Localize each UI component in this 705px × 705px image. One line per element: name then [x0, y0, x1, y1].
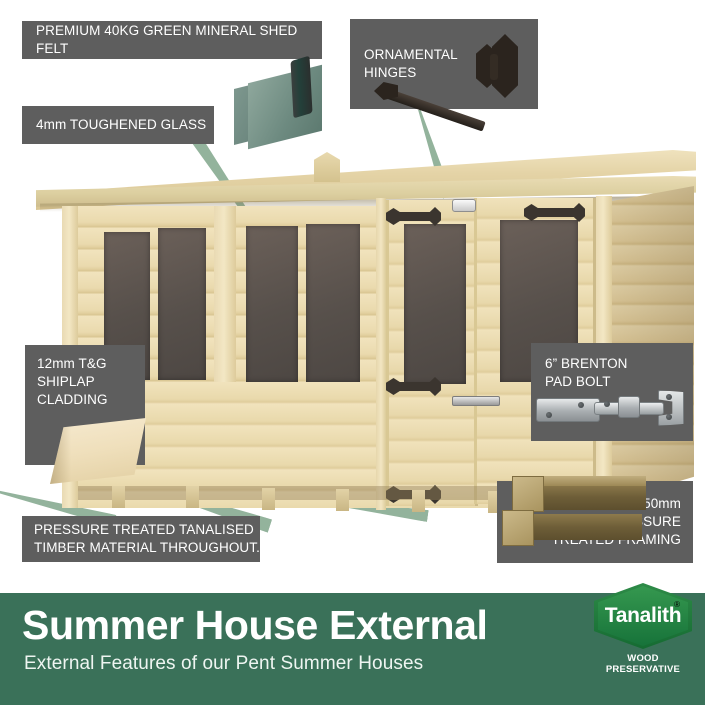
door-pad-bolt: [452, 396, 500, 406]
timber-batten-lower-end: [502, 510, 534, 546]
base-bearer-3: [262, 488, 275, 510]
window-pane-4: [306, 224, 360, 382]
timber-batten-upper-side: [526, 484, 646, 510]
pad-bolt-photo: [534, 382, 690, 430]
base-bearer-2: [186, 486, 199, 508]
hinge-tip: [374, 82, 398, 100]
window-pane-3: [246, 226, 298, 382]
ornamental-hinge-1: [392, 212, 436, 221]
framing-timber-photo: [500, 468, 650, 554]
roof-ridge-block: [314, 152, 340, 182]
page-title: Summer House External: [22, 605, 488, 646]
door-frame: [376, 198, 386, 510]
door-window-left: [404, 224, 466, 384]
base-bearer-1: [112, 486, 125, 508]
callout-glass-label: 4mm TOUGHENED GLASS: [36, 116, 206, 134]
pad-bolt-screw-1: [546, 412, 552, 418]
felt-roll-photo: [232, 52, 344, 144]
hinge-knuckle: [490, 54, 498, 80]
pad-bolt-plate: [536, 398, 600, 422]
page-subtitle: External Features of our Pent Summer Hou…: [24, 654, 423, 673]
tanalith-logo: Tanalith ® WOOD PRESERVATIVE: [594, 583, 692, 683]
infographic-canvas: PREMIUM 40KG GREEN MINERAL SHED FELT ORN…: [0, 0, 705, 705]
pad-bolt-screw-4: [666, 394, 672, 400]
pad-bolt-screw-2: [578, 402, 584, 408]
ornamental-hinge-2: [392, 382, 436, 391]
timber-batten-upper-top: [526, 476, 646, 486]
tanalith-wordmark: Tanalith: [605, 604, 682, 628]
ornamental-hinge-photo: [372, 28, 534, 104]
registered-mark-icon: ®: [674, 600, 680, 609]
felt-roll-core: [290, 56, 312, 119]
tanalith-tagline: WOOD PRESERVATIVE: [594, 653, 692, 675]
door-catch: [452, 199, 476, 212]
callout-pressure-treated-label: PRESSURE TREATED TANALISED TIMBER MATERI…: [34, 521, 260, 557]
ornamental-hinge-4: [530, 208, 580, 217]
timber-batten-upper-end: [512, 476, 544, 512]
callout-glass[interactable]: 4mm TOUGHENED GLASS: [22, 106, 214, 144]
base-bearer-5: [412, 490, 425, 512]
callout-cladding-label: 12mm T&G SHIPLAP CLADDING: [37, 355, 108, 408]
window-pane-2: [158, 228, 206, 380]
pad-bolt-screw-5: [666, 414, 672, 420]
shiplap-cladding-edge: [50, 418, 146, 484]
base-bearer-4: [336, 489, 349, 511]
callout-pressure-treated[interactable]: PRESSURE TREATED TANALISED TIMBER MATERI…: [22, 516, 260, 562]
pad-bolt-collar: [618, 396, 640, 418]
pad-bolt-screw-3: [604, 401, 610, 407]
